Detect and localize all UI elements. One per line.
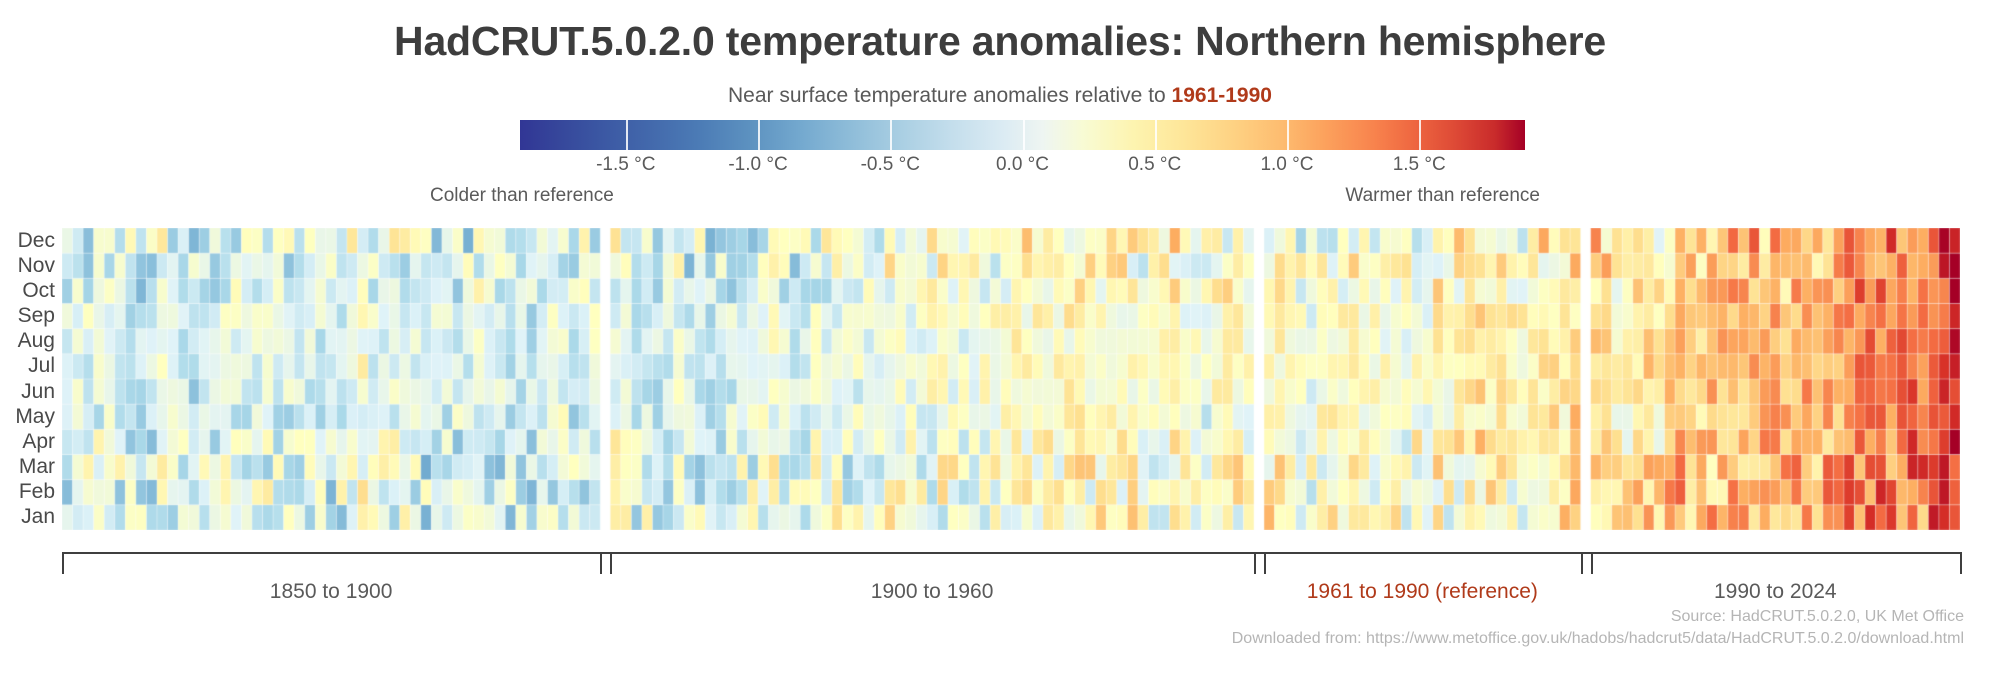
x-tick-3-1	[1960, 552, 1962, 574]
heatmap-canvas	[62, 228, 1960, 530]
x-tick-0-0	[62, 552, 64, 574]
source-line-2: Downloaded from: https://www.metoffice.g…	[1232, 630, 1964, 648]
warmer-than-reference-label: Warmer than reference	[1345, 185, 1540, 207]
x-tick-3-0	[1591, 552, 1593, 574]
month-label-sep: Sep	[18, 304, 55, 328]
month-label-may: May	[15, 405, 55, 429]
x-tick-2-0	[1264, 552, 1266, 574]
period-label-1850-1900: 1850 to 1900	[270, 580, 393, 604]
colorbar-tick-label-6: 1.5 °C	[1393, 154, 1446, 176]
colorbar-tick-label-5: 1.0 °C	[1260, 154, 1313, 176]
page-title: HadCRUT.5.0.2.0 temperature anomalies: N…	[0, 18, 2000, 65]
month-label-aug: Aug	[18, 329, 55, 353]
colorbar-tick-2	[890, 120, 892, 150]
colorbar-tick-4	[1155, 120, 1157, 150]
period-label-1900-1960: 1900 to 1960	[871, 580, 994, 604]
x-tick-0-1	[600, 552, 602, 574]
period-label-1961-1990: 1961 to 1990 (reference)	[1307, 580, 1538, 604]
month-label-jul: Jul	[28, 354, 55, 378]
period-label-1990-2024: 1990 to 2024	[1714, 580, 1837, 604]
colorbar-tick-5	[1287, 120, 1289, 150]
source-line-1: Source: HadCRUT.5.0.2.0, UK Met Office	[1671, 608, 1964, 626]
month-label-jan: Jan	[21, 505, 55, 529]
colorbar-tick-0	[626, 120, 628, 150]
month-axis-labels: DecNovOctSepAugJulJunMayAprMarFebJan	[0, 228, 55, 530]
month-label-apr: Apr	[22, 430, 55, 454]
subtitle-prefix: Near surface temperature anomalies relat…	[728, 84, 1172, 107]
month-label-oct: Oct	[22, 279, 55, 303]
colorbar	[520, 120, 1525, 150]
colorbar-tick-label-0: -1.5 °C	[596, 154, 655, 176]
month-label-feb: Feb	[19, 480, 55, 504]
colder-than-reference-label: Colder than reference	[430, 185, 614, 207]
colorbar-tick-label-1: -1.0 °C	[728, 154, 787, 176]
month-label-dec: Dec	[18, 229, 55, 253]
month-label-mar: Mar	[19, 455, 55, 479]
colorbar-tick-label-4: 0.5 °C	[1128, 154, 1181, 176]
x-tick-1-0	[610, 552, 612, 574]
month-label-jun: Jun	[21, 380, 55, 404]
chart-subtitle: Near surface temperature anomalies relat…	[0, 84, 2000, 108]
month-label-nov: Nov	[18, 254, 55, 278]
x-axis-line	[62, 552, 1960, 554]
x-tick-2-1	[1581, 552, 1583, 574]
heatmap-plot	[62, 228, 1960, 530]
colorbar-tick-label-3: 0.0 °C	[996, 154, 1049, 176]
subtitle-reference-period: 1961-1990	[1172, 84, 1272, 107]
x-tick-1-1	[1254, 552, 1256, 574]
chart-page: HadCRUT.5.0.2.0 temperature anomalies: N…	[0, 0, 2000, 700]
colorbar-tick-label-2: -0.5 °C	[861, 154, 920, 176]
colorbar-tick-1	[758, 120, 760, 150]
colorbar-tick-6	[1419, 120, 1421, 150]
colorbar-tick-3	[1023, 120, 1025, 150]
